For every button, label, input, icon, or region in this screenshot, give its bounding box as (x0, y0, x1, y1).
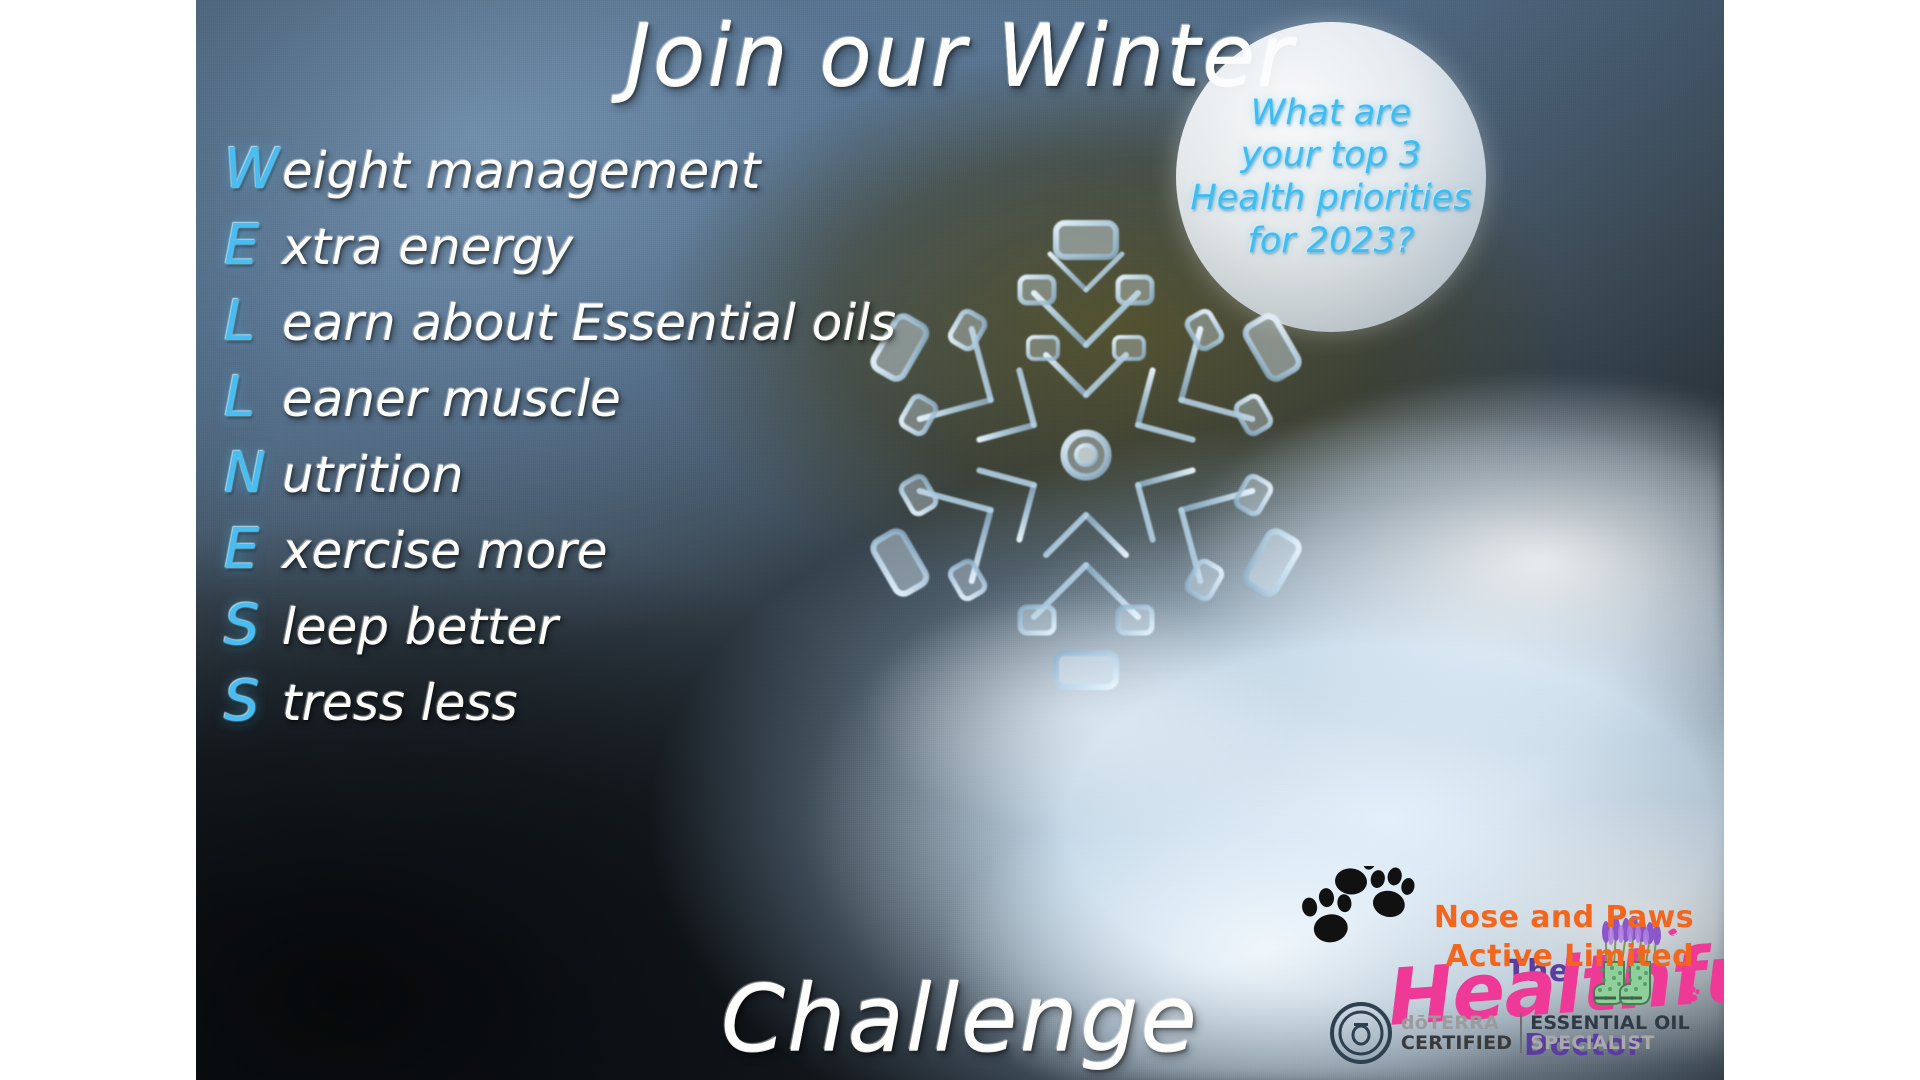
list-item-label: xtra energy (282, 222, 573, 272)
list-item: L earn about Essential oils (196, 294, 1016, 370)
doterra-specialist-text: SPECIALIST (1530, 1033, 1690, 1053)
doterra-brand-column: dōTERRA CERTIFIED (1401, 1013, 1512, 1053)
winter-challenge-poster: Join our Winter W eight management E xtr… (196, 0, 1724, 1080)
nose-and-paws-text: Nose and Paws Active Limited (1434, 899, 1694, 976)
acrostic-letter: W (224, 142, 282, 198)
acrostic-letter: L (224, 370, 282, 426)
list-item: N utrition (196, 446, 1016, 522)
acrostic-letter: S (224, 674, 282, 730)
nose-paws-line1: Nose and Paws (1434, 899, 1694, 937)
list-item-label: eight management (282, 146, 761, 196)
list-item-label: xercise more (282, 526, 608, 576)
paw-prints-icon (1296, 866, 1446, 976)
question-bubble: What are your top 3 Health priorities fo… (1176, 22, 1486, 332)
acrostic-letter: L (224, 294, 282, 350)
list-item-label: leep better (282, 602, 558, 652)
list-item-label: eaner muscle (282, 374, 621, 424)
bubble-line: What are (1251, 92, 1411, 135)
bubble-line: Health priorities (1190, 177, 1471, 220)
doterra-certified-badge: dōTERRA CERTIFIED ESSENTIAL OIL SPECIALI… (1330, 1002, 1690, 1064)
doterra-specialty-column: ESSENTIAL OIL SPECIALIST (1530, 1013, 1690, 1053)
list-item: S leep better (196, 598, 1016, 674)
list-item: S tress less (196, 674, 1016, 750)
list-item-label: utrition (282, 450, 464, 500)
page-title-top: Join our Winter (196, 6, 1724, 106)
poster-stage: Join our Winter W eight management E xtr… (0, 0, 1920, 1080)
nose-paws-line2: Active Limited (1434, 938, 1694, 976)
list-item: E xercise more (196, 522, 1016, 598)
acrostic-letter: E (224, 218, 282, 274)
list-item-label: tress less (282, 678, 518, 728)
list-item: W eight management (196, 142, 1016, 218)
list-item: E xtra energy (196, 218, 1016, 294)
doterra-seal-icon (1330, 1002, 1392, 1064)
list-item: L eaner muscle (196, 370, 1016, 446)
acrostic-letter: S (224, 598, 282, 654)
doterra-wordmark: dōTERRA CERTIFIED ESSENTIAL OIL SPECIALI… (1401, 1013, 1690, 1053)
doterra-divider (1520, 1013, 1522, 1053)
doterra-essential-oil-text: ESSENTIAL OIL (1530, 1013, 1690, 1033)
bubble-line: your top 3 (1241, 134, 1422, 177)
acrostic-letter: E (224, 522, 282, 578)
branding-block: The Healthful Doctor (1290, 924, 1710, 1072)
bubble-line: for 2023? (1248, 220, 1415, 263)
list-item-label: earn about Essential oils (282, 298, 896, 348)
acrostic-letter: N (224, 446, 282, 502)
wellness-acrostic-list: W eight management E xtra energy L earn … (196, 142, 1016, 750)
doterra-certified-text: CERTIFIED (1401, 1033, 1512, 1053)
doterra-brand-text: dōTERRA (1401, 1013, 1512, 1033)
